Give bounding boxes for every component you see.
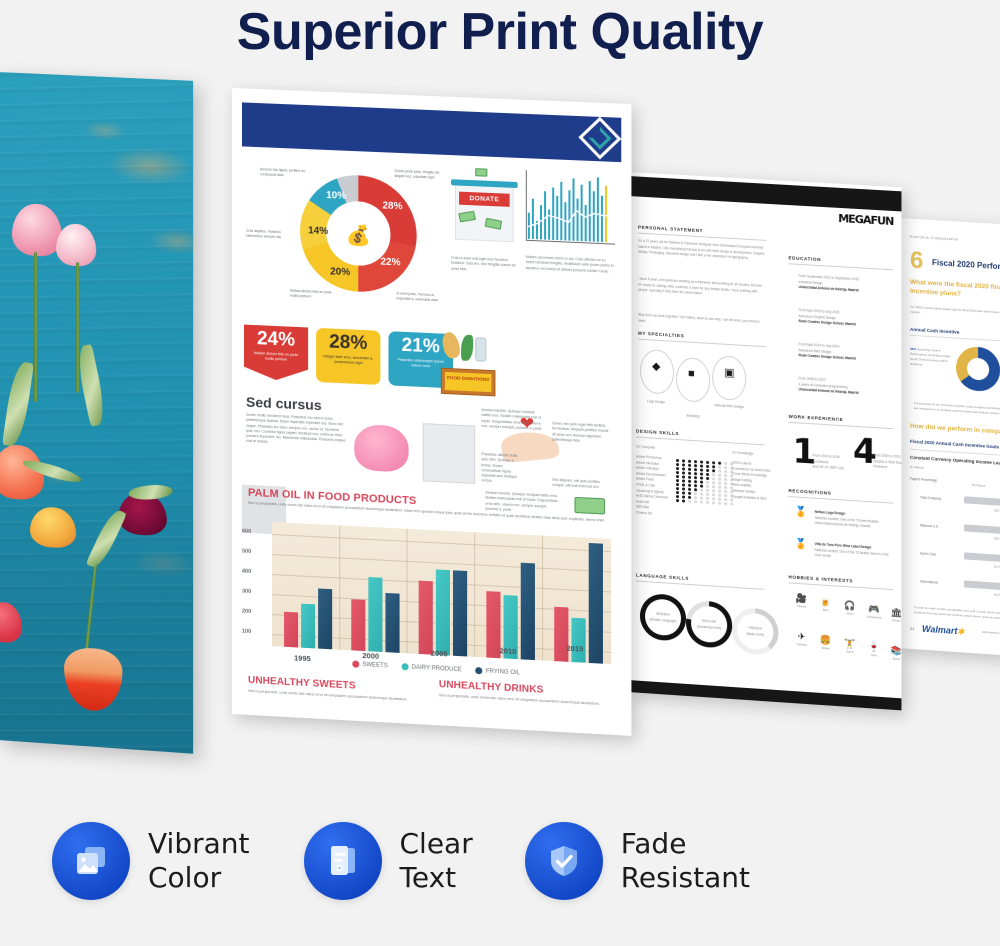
xtick-2010: 2010 (499, 646, 516, 656)
education-item-1: From April 2015 to July 2015Advanced Gra… (799, 308, 896, 331)
donut-callout-1: Donec pede justo, fringilla vel, aliquet… (395, 169, 443, 181)
donut-label-22: 22% (380, 257, 400, 269)
report-row-bar-2 (964, 552, 1000, 564)
donate-label: DONATE (459, 192, 510, 207)
bar-1995-frying (318, 588, 332, 649)
report-table-unit: (in millions) (910, 465, 924, 470)
recognition-0: Nettuo Logo DesignSelected contest, One … (815, 510, 896, 532)
report-footnote-1: For purposes of our incentive program, t… (914, 401, 1000, 419)
feature-label: Clear Text (400, 827, 473, 895)
resume-statement-3: Why don't we work together? Get further,… (638, 313, 766, 332)
hobby-wine: 🍷Wine (863, 641, 885, 658)
report-row-bar-3 (964, 580, 1000, 592)
report-page-number: 54 (910, 626, 914, 631)
wine-icon: 🍷 (863, 641, 885, 654)
videogames-icon: 🎮 (863, 603, 885, 616)
middle-copy-4: Aenean lobortis. Quisque volutpat mattis… (485, 490, 558, 515)
photo-image-glyph (71, 841, 111, 881)
xtick-2005: 2005 (431, 649, 448, 659)
bar-2010-frying (521, 563, 535, 660)
microchart-caption: Nullam accumsan lorem in dui. Cras ultri… (526, 255, 615, 275)
report-intro: Our NEOs' performance-based pay for fisc… (910, 305, 1000, 323)
resume-heading-specialties: MY SPECIALTIES (638, 331, 684, 339)
language-ring-spanish: SPANISH(Mother Language) (640, 593, 686, 642)
hobby-beer: 🍺Beer (815, 596, 837, 613)
report-donut-chart (956, 346, 1000, 393)
report-section-number: 6 (910, 249, 923, 274)
language-ring-french: FRENCH(Basic level) (732, 607, 778, 656)
document-text-icon (304, 822, 382, 900)
food-donations-label: FOOD DONATIONS (445, 372, 491, 392)
education-item-2: From April 2014 to July 2014Advanced Web… (799, 342, 896, 365)
resume-heading-recognitions: RECOGNITIONS (788, 488, 831, 496)
shield-check-icon (525, 822, 603, 900)
stat-text: Nullam dictum felis eu pede mollis preti… (244, 348, 308, 363)
hobby-books: 📚Books (885, 645, 901, 662)
sed-cursus-title: Sed cursus (246, 394, 322, 414)
ytick-500: 500 (242, 549, 251, 555)
feature-label: Fade Resistant (621, 827, 750, 895)
middle-copy-0: Aenean lobortis. Quisque volutpat mattis… (481, 408, 544, 432)
resume-header-band (628, 176, 901, 211)
report-subhead-1: Annual Cash Incentive (910, 327, 959, 335)
report-row-bar-1 (964, 524, 1000, 536)
hobby-music: 🎧Music (839, 600, 861, 617)
food-donations-illustration: FOOD DONATIONS (439, 331, 498, 396)
middle-copy-1: Donec nec justo eget felis facilisis fer… (552, 421, 611, 445)
tulips-photo (0, 72, 193, 754)
legend-label: SWEETS (362, 662, 387, 669)
shield-check-glyph (544, 841, 584, 881)
donut-callout-3: Nullam dictum felis eu pede mollis preti… (290, 289, 338, 301)
report-question: What were the fiscal 2020 financial ince… (910, 279, 1000, 305)
education-item-0: From September 2012 to September 2015Ind… (799, 274, 896, 296)
bar-2005-dairy (436, 569, 450, 655)
education-item-3: From 2006 to 20104 years of Computer pro… (799, 376, 896, 399)
ytick-100: 100 (242, 629, 251, 635)
money-bill-icon (575, 497, 605, 515)
bar-1995-dairy (301, 604, 315, 649)
piggy-bank-illustration (354, 424, 408, 473)
resume-heading-design-skills: DESIGN SKILLS (636, 428, 679, 436)
skills-left-head: CV Computer (636, 444, 655, 451)
walmart-logo: Walmart✱ (922, 624, 964, 637)
ytick-200: 200 (242, 609, 251, 615)
bar-2015-sweets (554, 607, 568, 662)
sports-icon: 🏋 (839, 638, 861, 651)
report-row-label-0: Total Company (920, 495, 941, 500)
report-col-payout: Payout Percentage (910, 477, 937, 483)
page-title: Superior Print Quality (0, 2, 1000, 62)
skills-right-list: UI/UX LayoutEcommerce for funnel lofts C… (732, 460, 774, 502)
donate-caption: Cras ut amet erat eget mus faucibus tinc… (451, 256, 516, 275)
infographic-poster: 💰 28% 22% 20% 14% 10% Aenean hac ligula,… (232, 88, 631, 736)
books-icon: 📚 (885, 645, 901, 658)
promo-stage: Superior Print Quality 💰 28% (0, 0, 1000, 946)
skills-dot-grid (676, 459, 735, 506)
report-row-label-1: Walmart U.S. (920, 523, 939, 528)
poster-header-band (242, 102, 621, 162)
stat-chip-row: 24% Nullam dictum felis eu pede mollis p… (244, 325, 621, 405)
annual-report-page: Executive Compensation 6 Fiscal 2020 Per… (898, 218, 1000, 658)
document-text-glyph (323, 841, 363, 881)
report-table-title: Fiscal 2020 Annual Cash Incentive Goals (910, 439, 999, 450)
legend-item-sweets: SWEETS (352, 660, 388, 669)
middle-copy-2: Phasellus ultrices nulla quis nibh. Quis… (481, 452, 521, 486)
donut-label-10: 10% (326, 190, 346, 202)
work-detail-1: From 2009 to 2016Graphic & Web DesignerF… (873, 453, 901, 472)
legend-item-dairy: DAIRY PRODUCE (402, 663, 462, 673)
designer-resume-page: MEGAFUN PERSONAL STATEMENT I'm a 27 year… (628, 172, 901, 710)
hobby-sports: 🏋Sports (839, 638, 861, 655)
medal-icon-1: 🏅 (795, 539, 808, 551)
footer-sweets: UNHEALTHY SWEETS Sed ut perspiciatis, un… (248, 675, 425, 704)
xtick-1995: 1995 (294, 653, 311, 663)
sed-cursus-body: Donec mollis hendrerit risus. Phasellus … (246, 413, 346, 449)
ytick-300: 300 (242, 589, 251, 595)
resume-heading-languages: LANGUAGE SKILLS (636, 573, 689, 581)
xtick-2000: 2000 (362, 651, 379, 661)
resume-statement-1: I'm a 27 years old Art Director & Freela… (638, 239, 766, 263)
stem-1 (34, 252, 37, 402)
bar-1995-sweets (284, 612, 298, 648)
donut-label-20: 20% (330, 266, 350, 278)
skills-right-head: CV Knowledge (732, 450, 753, 457)
cinema-icon: 🎥 (790, 593, 812, 605)
photo-image-icon (52, 822, 130, 900)
bar-2005-sweets (419, 581, 433, 655)
resume-heading-personal-statement: PERSONAL STATEMENT (638, 225, 703, 234)
donut-chart: 💰 28% 22% 20% 14% 10% Aenean hac ligula,… (246, 159, 447, 318)
xtick-2015: 2015 (566, 644, 583, 654)
web-design-icon: ▣ (724, 366, 734, 380)
hamburger-icon: 🍔 (815, 634, 837, 647)
beer-icon: 🍺 (815, 596, 837, 608)
bar-chart-legend: SWEETS DAIRY PRODUCE FRYING OIL (352, 660, 532, 677)
stat-chip-1: 28% Integer ante arcu, accumsan a, conse… (316, 328, 380, 385)
report-brand-url: www.walmart.com (982, 630, 1000, 636)
music-icon: 🎧 (839, 600, 861, 612)
report-col-nopayout: No Payout (972, 483, 985, 488)
bar-2005-frying (453, 570, 467, 656)
report-footnote-2: In order to make results comparable from… (914, 605, 1000, 624)
language-ring-english: ENGLISH(Advanced level) (686, 600, 732, 649)
report-row-label-2: Sam's Club (920, 551, 936, 556)
medicine-jar-illustration (423, 423, 475, 484)
branding-icon: ■ (688, 368, 695, 380)
feature-vibrant-color: Vibrant Color (52, 822, 250, 900)
hobby-traveling: ✈Traveling (790, 631, 812, 648)
donut-label-14: 14% (308, 225, 328, 237)
medal-icon-0: 🏅 (795, 506, 808, 518)
report-donut-left-label: 36% Operating Income Performance (includ… (910, 347, 952, 370)
report-row-value-2: $1,499 (994, 564, 1000, 569)
donut-callout-2: Cras dapibus. Vivamus elementum semper n… (246, 229, 294, 241)
middle-copy-3: Sed aliquam, nisi quis porttitor congue,… (552, 478, 609, 491)
theatre-icon: 🏛 (885, 607, 901, 620)
hobby-theatre: 🏛Theatre (885, 607, 901, 624)
bar-2015-frying (589, 543, 603, 664)
donate-illustration: DONATE (451, 169, 518, 254)
skills-left-list: Adobe PhotoshopAdobe Illustrator Adobe I… (636, 454, 676, 518)
legend-item-frying: FRYING OIL (476, 667, 520, 676)
stem-2 (76, 262, 79, 393)
bar-2000-frying (385, 593, 399, 653)
traveling-icon: ✈ (790, 631, 812, 644)
bar-2000-dairy (368, 577, 382, 652)
feature-badges: Vibrant Color Clear Text (0, 806, 1000, 916)
stat-chip-0: 24% Nullam dictum felis eu pede mollis p… (244, 325, 308, 382)
report-subhead-2: How did we perform in comparison? (910, 423, 1000, 437)
resume-heading-work-experience: WORK EXPERIENCE (788, 414, 843, 422)
donut-label-28: 28% (382, 200, 402, 212)
ytick-400: 400 (242, 569, 251, 575)
report-row-value-3: $3,478 (994, 592, 1000, 597)
hobby-burger: 🍔Burger (815, 634, 837, 651)
feature-fade-resistant: Fade Resistant (525, 822, 750, 900)
feature-label: Vibrant Color (148, 827, 250, 895)
bar-2010-sweets (486, 591, 500, 658)
hobby-videogames: 🎮Videogames (863, 603, 885, 620)
bar-chart-plot (272, 522, 611, 664)
report-eyebrow: Executive Compensation (910, 235, 959, 242)
hobby-cinema: 🎥Cinema (790, 593, 812, 609)
trend-line (526, 192, 615, 242)
report-row-label-3: International (920, 579, 938, 584)
mini-bar-line-chart (526, 162, 615, 252)
resume-footer-band (628, 680, 901, 710)
report-section-title: Fiscal 2020 Performance (932, 258, 1000, 273)
footer-drinks: UNHEALTHY DRINKS Sed ut perspiciatis, un… (439, 679, 617, 708)
specialty-label-2: Minimal Web Design (706, 403, 752, 411)
report-row-value-1: $18,391 (994, 536, 1000, 541)
specialty-label-1: Branding (672, 413, 714, 421)
stat-text: Integer ante arcu, accumsan a, consectet… (316, 352, 380, 367)
feature-clear-text: Clear Text (304, 822, 473, 900)
report-row-value-0: $20,403 (994, 508, 1000, 513)
resume-logo: MEGAFUN (838, 212, 893, 228)
donut-callout-0: Aenean hac ligula, porttitor eu, consequ… (260, 167, 308, 179)
resume-heading-education: EDUCATION (788, 255, 821, 262)
bar-2015-dairy (571, 618, 585, 663)
legend-label: DAIRY PRODUCE (412, 665, 462, 674)
specialty-label-0: Logo Design (636, 398, 676, 406)
donut-callout-4: In enim justo, rhoncus ut, imperdiet a, … (397, 291, 445, 303)
work-detail-0: From 2015 to 2016Art DirectorBoni 40 GT … (813, 453, 853, 472)
piggy-bank-icon: 💰 (346, 223, 371, 249)
ytick-600: 600 (242, 529, 251, 535)
bar-2000-sweets (351, 599, 365, 651)
logo-design-icon: ◆ (652, 359, 660, 373)
resume-statement-2: I have 4 years of experience working as … (638, 277, 766, 301)
report-row-bar-0 (964, 496, 1000, 508)
legend-label: FRYING OIL (486, 669, 520, 677)
recognition-1: Viña de Toro Pure Wine Label DesignNatio… (815, 542, 896, 564)
